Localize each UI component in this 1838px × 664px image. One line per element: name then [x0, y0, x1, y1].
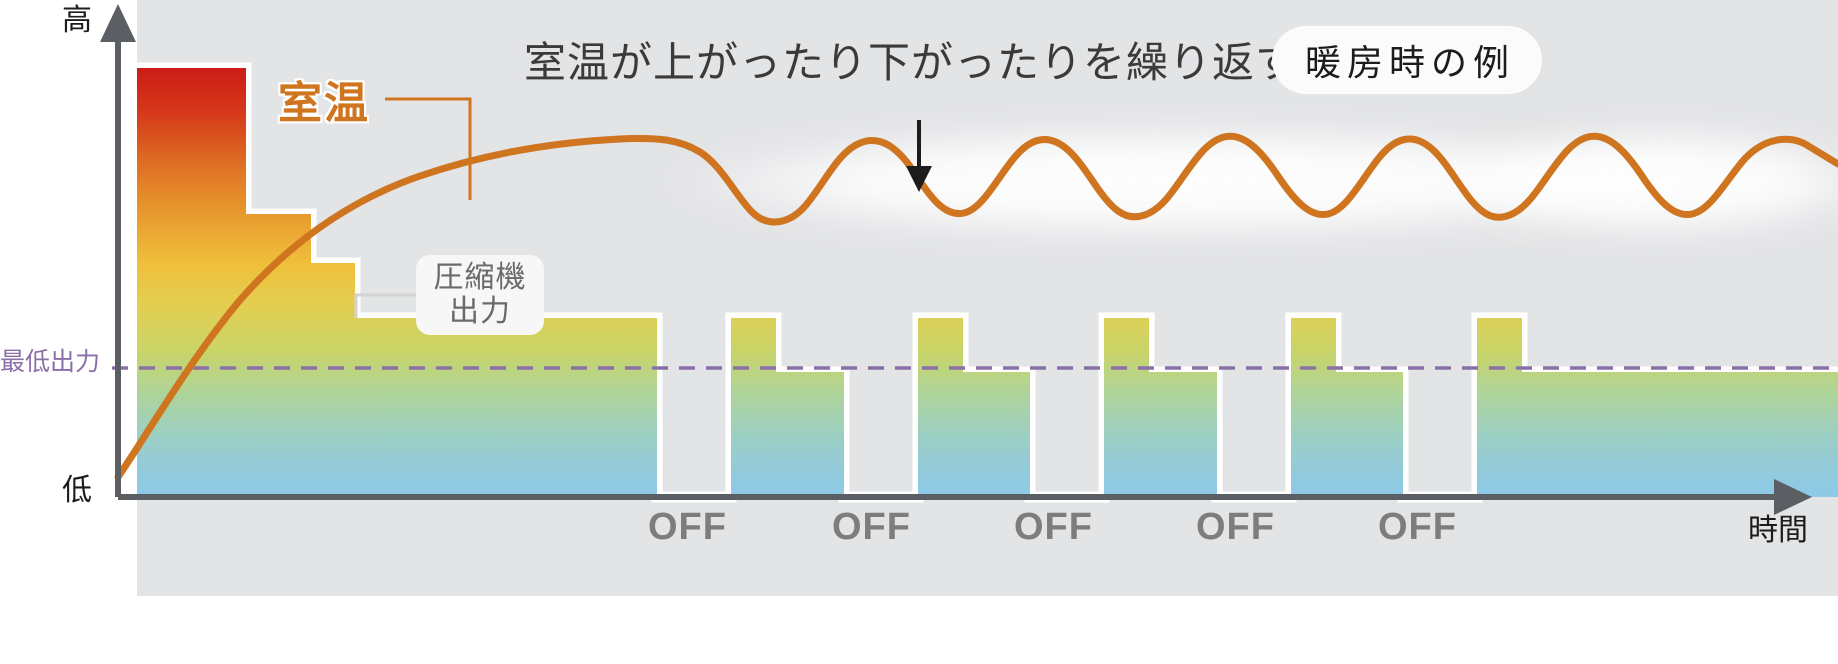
off-label-2: OFF: [832, 508, 911, 546]
bar-block-cycle-5: [1477, 318, 1838, 497]
oscillation-annotation-text: 室温が上がったり下がったりを繰り返す。: [524, 42, 1337, 84]
compressor-output-label-line2: 出力: [449, 295, 511, 330]
heating-example-badge: 暖房時の例: [1272, 26, 1542, 94]
compressor-output-callout: 圧縮機 出力: [416, 255, 544, 335]
bar-block-startup: [137, 68, 657, 497]
x-axis-label: 時間: [1748, 516, 1808, 546]
minimum-output-label: 最低出力: [0, 350, 100, 375]
bar-block-cycle-4: [1291, 318, 1403, 497]
off-label-1: OFF: [648, 508, 727, 546]
bar-block-cycle-2: [918, 318, 1030, 497]
y-axis-top-label: 高: [62, 6, 92, 36]
room-temperature-label: 室温: [278, 82, 370, 126]
off-label-5: OFF: [1378, 508, 1457, 546]
chart-figure: 高 低 時間 最低出力 室温 圧縮機 出力 室温が上がったり下がったりを繰り返す…: [0, 0, 1838, 664]
y-axis-arrowhead: [100, 4, 136, 42]
bar-block-cycle-1: [731, 318, 844, 497]
off-label-3: OFF: [1014, 508, 1093, 546]
y-axis-bottom-label: 低: [62, 476, 92, 506]
bar-block-cycle-3: [1104, 318, 1217, 497]
off-label-4: OFF: [1196, 508, 1275, 546]
compressor-output-label-line1: 圧縮機: [434, 261, 527, 296]
chart-vector-art: [0, 0, 1838, 664]
